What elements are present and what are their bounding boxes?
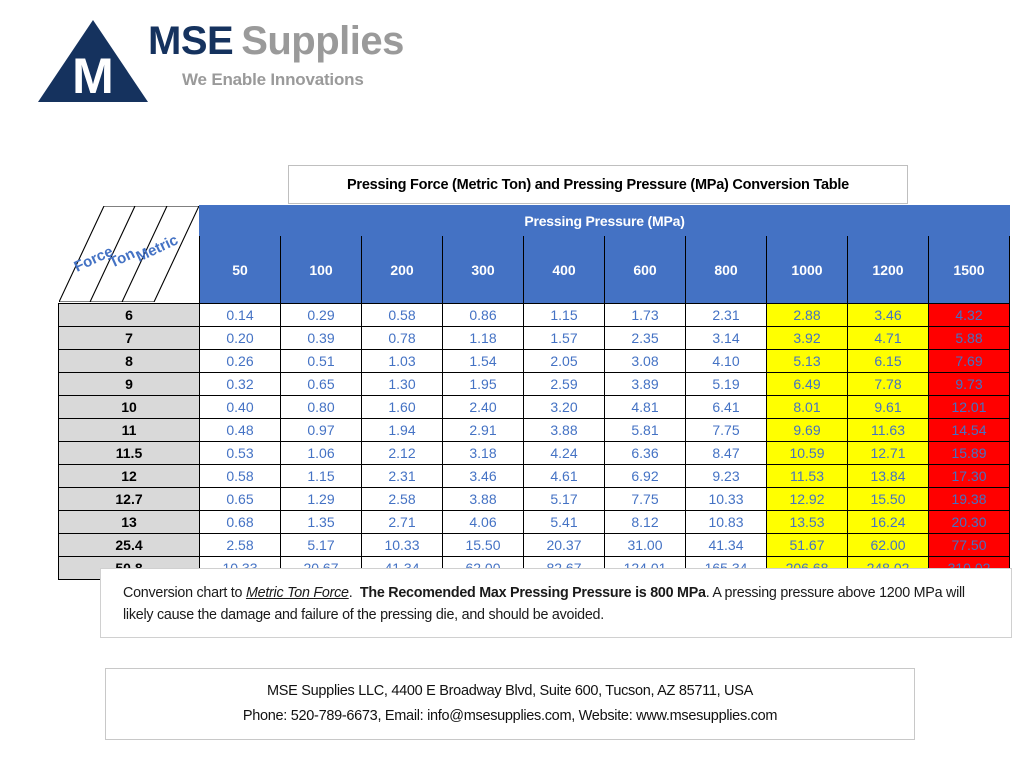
cell-9-400: 2.59 <box>524 373 605 396</box>
cell-13-1500: 20.30 <box>929 511 1010 534</box>
cell-13-200: 2.71 <box>362 511 443 534</box>
cell-8-300: 1.54 <box>443 350 524 373</box>
table-row: 80.260.511.031.542.053.084.105.136.157.6… <box>59 350 1010 373</box>
cell-6-600: 1.73 <box>605 304 686 327</box>
cell-8-1000: 5.13 <box>767 350 848 373</box>
note-text: Conversion chart to Metric Ton Force. Th… <box>123 582 989 626</box>
row-header-12: 12 <box>59 465 200 488</box>
column-header-1200: 1200 <box>848 236 929 304</box>
cell-6-400: 1.15 <box>524 304 605 327</box>
row-header-7: 7 <box>59 327 200 350</box>
cell-12.7-600: 7.75 <box>605 488 686 511</box>
cell-9-300: 1.95 <box>443 373 524 396</box>
cell-6-1200: 3.46 <box>848 304 929 327</box>
cell-10-400: 3.20 <box>524 396 605 419</box>
row-header-12.7: 12.7 <box>59 488 200 511</box>
conversion-table-body: 60.140.290.580.861.151.732.312.883.464.3… <box>59 304 1010 580</box>
logo-letter: M <box>38 50 148 102</box>
cell-10-50: 0.40 <box>200 396 281 419</box>
cell-11-800: 7.75 <box>686 419 767 442</box>
cell-11-1500: 14.54 <box>929 419 1010 442</box>
cell-8-100: 0.51 <box>281 350 362 373</box>
cell-25.4-800: 41.34 <box>686 534 767 557</box>
cell-25.4-400: 20.37 <box>524 534 605 557</box>
logo-brand-first: MSE <box>148 19 233 63</box>
column-header-100: 100 <box>281 236 362 304</box>
cell-6-200: 0.58 <box>362 304 443 327</box>
table-row: 120.581.152.313.464.616.929.2311.5313.84… <box>59 465 1010 488</box>
cell-7-1000: 3.92 <box>767 327 848 350</box>
cell-12-800: 9.23 <box>686 465 767 488</box>
cell-8-1500: 7.69 <box>929 350 1010 373</box>
cell-12-1500: 17.30 <box>929 465 1010 488</box>
cell-6-1500: 4.32 <box>929 304 1010 327</box>
cell-25.4-200: 10.33 <box>362 534 443 557</box>
cell-12-400: 4.61 <box>524 465 605 488</box>
cell-12.7-800: 10.33 <box>686 488 767 511</box>
cell-6-100: 0.29 <box>281 304 362 327</box>
cell-12.7-1200: 15.50 <box>848 488 929 511</box>
column-header-200: 200 <box>362 236 443 304</box>
column-band-header: Pressing Pressure (MPa) <box>200 206 1010 236</box>
logo-brand-second: Supplies <box>233 19 404 63</box>
cell-25.4-300: 15.50 <box>443 534 524 557</box>
cell-13-600: 8.12 <box>605 511 686 534</box>
table-title-box: Pressing Force (Metric Ton) and Pressing… <box>288 165 908 204</box>
cell-7-1200: 4.71 <box>848 327 929 350</box>
logo-title: MSESupplies <box>148 18 404 64</box>
table-row: 100.400.801.602.403.204.816.418.019.6112… <box>59 396 1010 419</box>
logo-wordmark: MSESupplies We Enable Innovations <box>148 18 404 90</box>
cell-11.5-1500: 15.89 <box>929 442 1010 465</box>
cell-12.7-400: 5.17 <box>524 488 605 511</box>
cell-11-300: 2.91 <box>443 419 524 442</box>
note-part1: Conversion chart to <box>123 585 246 601</box>
cell-7-600: 2.35 <box>605 327 686 350</box>
note-box: Conversion chart to Metric Ton Force. Th… <box>100 568 1012 638</box>
row-header-11: 11 <box>59 419 200 442</box>
table-row: 60.140.290.580.861.151.732.312.883.464.3… <box>59 304 1010 327</box>
cell-11.5-1200: 12.71 <box>848 442 929 465</box>
cell-7-400: 1.57 <box>524 327 605 350</box>
conversion-table-wrap: Force Ton Metric Pressing Pressure (MPa)… <box>58 205 1010 580</box>
cell-6-50: 0.14 <box>200 304 281 327</box>
cell-12.7-1500: 19.38 <box>929 488 1010 511</box>
note-bold: The Recomended Max Pressing Pressure is … <box>360 585 706 601</box>
cell-12-1200: 13.84 <box>848 465 929 488</box>
cell-25.4-100: 5.17 <box>281 534 362 557</box>
cell-11.5-100: 1.06 <box>281 442 362 465</box>
cell-12-300: 3.46 <box>443 465 524 488</box>
cell-8-800: 4.10 <box>686 350 767 373</box>
page-title: Pressing Force (Metric Ton) and Pressing… <box>347 177 849 193</box>
cell-6-800: 2.31 <box>686 304 767 327</box>
column-header-800: 800 <box>686 236 767 304</box>
cell-10-100: 0.80 <box>281 396 362 419</box>
footer-box: MSE Supplies LLC, 4400 E Broadway Blvd, … <box>105 668 915 740</box>
cell-9-100: 0.65 <box>281 373 362 396</box>
cell-12.7-1000: 12.92 <box>767 488 848 511</box>
cell-7-1500: 5.88 <box>929 327 1010 350</box>
table-row: 70.200.390.781.181.572.353.143.924.715.8… <box>59 327 1010 350</box>
cell-13-300: 4.06 <box>443 511 524 534</box>
cell-12-100: 1.15 <box>281 465 362 488</box>
cell-9-800: 5.19 <box>686 373 767 396</box>
table-row: 25.42.585.1710.3315.5020.3731.0041.3451.… <box>59 534 1010 557</box>
cell-25.4-50: 2.58 <box>200 534 281 557</box>
cell-7-50: 0.20 <box>200 327 281 350</box>
cell-8-600: 3.08 <box>605 350 686 373</box>
cell-13-100: 1.35 <box>281 511 362 534</box>
cell-11.5-400: 4.24 <box>524 442 605 465</box>
column-header-1500: 1500 <box>929 236 1010 304</box>
row-header-13: 13 <box>59 511 200 534</box>
cell-8-1200: 6.15 <box>848 350 929 373</box>
cell-13-1000: 13.53 <box>767 511 848 534</box>
table-row: 11.50.531.062.123.184.246.368.4710.5912.… <box>59 442 1010 465</box>
cell-8-400: 2.05 <box>524 350 605 373</box>
cell-6-300: 0.86 <box>443 304 524 327</box>
cell-9-1500: 9.73 <box>929 373 1010 396</box>
cell-11.5-600: 6.36 <box>605 442 686 465</box>
cell-10-200: 1.60 <box>362 396 443 419</box>
cell-9-1000: 6.49 <box>767 373 848 396</box>
cell-11-600: 5.81 <box>605 419 686 442</box>
cell-7-100: 0.39 <box>281 327 362 350</box>
table-row: 110.480.971.942.913.885.817.759.6911.631… <box>59 419 1010 442</box>
cell-13-1200: 16.24 <box>848 511 929 534</box>
cell-9-1200: 7.78 <box>848 373 929 396</box>
table-band-row: Force Ton Metric Pressing Pressure (MPa) <box>59 206 1010 236</box>
row-header-10: 10 <box>59 396 200 419</box>
cell-9-600: 3.89 <box>605 373 686 396</box>
logo-triangle-icon: M <box>38 20 148 102</box>
logo-tagline: We Enable Innovations <box>148 64 404 90</box>
cell-25.4-1000: 51.67 <box>767 534 848 557</box>
company-logo: M MSESupplies We Enable Innovations <box>38 12 398 107</box>
footer-contact: Phone: 520-789-6673, Email: info@msesupp… <box>243 704 777 729</box>
cell-13-50: 0.68 <box>200 511 281 534</box>
note-part2: . <box>349 585 360 601</box>
cell-10-600: 4.81 <box>605 396 686 419</box>
column-header-400: 400 <box>524 236 605 304</box>
footer-address: MSE Supplies LLC, 4400 E Broadway Blvd, … <box>267 679 753 704</box>
column-header-row: 50100200300400600800100012001500 <box>59 236 1010 304</box>
cell-11-400: 3.88 <box>524 419 605 442</box>
cell-7-300: 1.18 <box>443 327 524 350</box>
cell-7-200: 0.78 <box>362 327 443 350</box>
cell-11.5-800: 8.47 <box>686 442 767 465</box>
cell-11.5-1000: 10.59 <box>767 442 848 465</box>
cell-9-50: 0.32 <box>200 373 281 396</box>
column-header-300: 300 <box>443 236 524 304</box>
column-header-600: 600 <box>605 236 686 304</box>
cell-10-800: 6.41 <box>686 396 767 419</box>
cell-10-1500: 12.01 <box>929 396 1010 419</box>
column-header-1000: 1000 <box>767 236 848 304</box>
cell-12.7-200: 2.58 <box>362 488 443 511</box>
cell-25.4-600: 31.00 <box>605 534 686 557</box>
cell-10-300: 2.40 <box>443 396 524 419</box>
cell-12.7-300: 3.88 <box>443 488 524 511</box>
cell-11-100: 0.97 <box>281 419 362 442</box>
cell-7-800: 3.14 <box>686 327 767 350</box>
corner-header-cell: Force Ton Metric <box>59 206 200 304</box>
cell-12-1000: 11.53 <box>767 465 848 488</box>
row-header-9: 9 <box>59 373 200 396</box>
row-header-25.4: 25.4 <box>59 534 200 557</box>
table-row: 90.320.651.301.952.593.895.196.497.789.7… <box>59 373 1010 396</box>
cell-8-50: 0.26 <box>200 350 281 373</box>
cell-11.5-300: 3.18 <box>443 442 524 465</box>
column-header-50: 50 <box>200 236 281 304</box>
cell-10-1200: 9.61 <box>848 396 929 419</box>
cell-6-1000: 2.88 <box>767 304 848 327</box>
cell-10-1000: 8.01 <box>767 396 848 419</box>
conversion-table: Force Ton Metric Pressing Pressure (MPa)… <box>58 205 1010 580</box>
cell-12-600: 6.92 <box>605 465 686 488</box>
row-header-6: 6 <box>59 304 200 327</box>
cell-11.5-50: 0.53 <box>200 442 281 465</box>
cell-12-200: 2.31 <box>362 465 443 488</box>
cell-13-800: 10.83 <box>686 511 767 534</box>
note-emphasis: Metric Ton Force <box>246 585 349 601</box>
table-row: 130.681.352.714.065.418.1210.8313.5316.2… <box>59 511 1010 534</box>
cell-9-200: 1.30 <box>362 373 443 396</box>
cell-11-1000: 9.69 <box>767 419 848 442</box>
cell-11.5-200: 2.12 <box>362 442 443 465</box>
table-row: 12.70.651.292.583.885.177.7510.3312.9215… <box>59 488 1010 511</box>
cell-8-200: 1.03 <box>362 350 443 373</box>
row-header-11.5: 11.5 <box>59 442 200 465</box>
cell-25.4-1200: 62.00 <box>848 534 929 557</box>
cell-11-50: 0.48 <box>200 419 281 442</box>
cell-25.4-1500: 77.50 <box>929 534 1010 557</box>
cell-12.7-100: 1.29 <box>281 488 362 511</box>
cell-11-1200: 11.63 <box>848 419 929 442</box>
cell-11-200: 1.94 <box>362 419 443 442</box>
cell-12.7-50: 0.65 <box>200 488 281 511</box>
corner-diagonal-graphic: Force Ton Metric <box>59 206 199 302</box>
row-header-8: 8 <box>59 350 200 373</box>
cell-13-400: 5.41 <box>524 511 605 534</box>
cell-12-50: 0.58 <box>200 465 281 488</box>
